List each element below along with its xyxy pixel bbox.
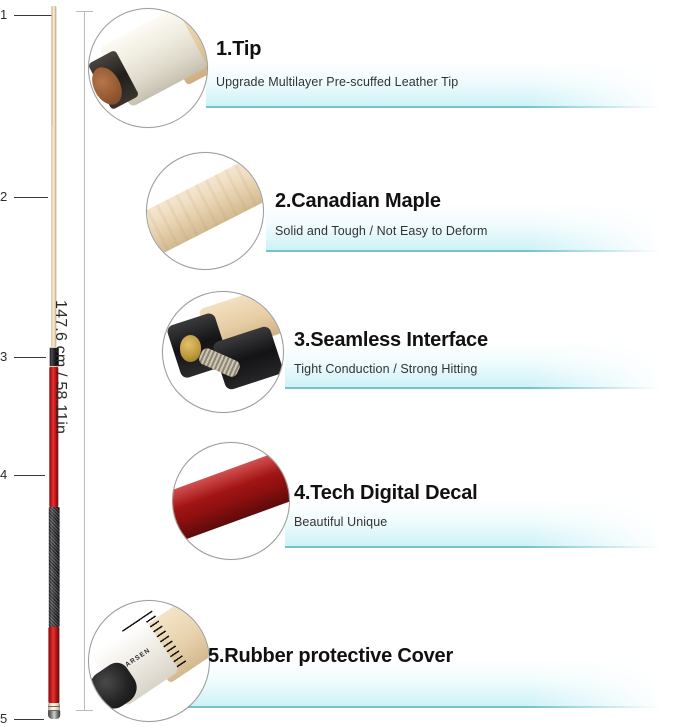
tick-leader-line xyxy=(14,357,46,358)
tick-marker-1: 1 xyxy=(0,8,52,22)
tick-label: 1 xyxy=(0,8,14,22)
tick-label: 4 xyxy=(0,468,14,482)
band-fade-overlay xyxy=(529,204,679,252)
length-dimension-label: 147.6 cm / 58.11in xyxy=(51,300,69,434)
cue-butt-ring-a xyxy=(48,706,60,707)
feature-title: 4.Tech Digital Decal xyxy=(294,482,477,505)
feature-title: 5.Rubber protective Cover xyxy=(208,645,453,668)
feature-subtitle: Solid and Tough / Not Easy to Deform xyxy=(275,224,488,238)
cue-rubber-bumper xyxy=(48,711,60,719)
joint-interface-photo xyxy=(162,291,284,413)
maple-photo-grain xyxy=(147,153,263,262)
tick-label: 5 xyxy=(0,712,14,726)
feature-subtitle: Tight Conduction / Strong Hitting xyxy=(294,362,478,376)
decal-photo-highlight xyxy=(173,443,289,546)
tick-label: 2 xyxy=(0,190,14,204)
feature-subtitle: Beautiful Unique xyxy=(294,515,387,529)
tick-leader-line xyxy=(14,475,45,476)
feature-subtitle: Upgrade Multilayer Pre-scuffed Leather T… xyxy=(216,75,458,89)
band-fade-overlay xyxy=(529,660,679,708)
tick-label: 3 xyxy=(0,350,14,364)
tick-marker-5: 5 xyxy=(0,712,44,726)
tick-leader-line xyxy=(14,719,44,720)
product-infographic: 1 2 3 4 5 xyxy=(0,0,679,727)
band-fade-overlay xyxy=(529,60,679,108)
feature-title: 1.Tip xyxy=(216,38,261,61)
cue-grip-wrap xyxy=(49,507,60,627)
cue-red-butt xyxy=(48,627,59,703)
cue-tip-photo xyxy=(88,8,208,128)
rubber-cover-photo: GARSEN xyxy=(88,600,210,722)
band-fade-overlay xyxy=(529,341,679,389)
measurement-column: 1 2 3 4 5 xyxy=(0,0,100,727)
tick-marker-3: 3 xyxy=(0,350,46,364)
feature-title: 2.Canadian Maple xyxy=(275,190,441,213)
tick-marker-2: 2 xyxy=(0,190,48,204)
maple-shaft-photo xyxy=(146,152,264,270)
tick-leader-line xyxy=(14,197,48,198)
tick-marker-4: 4 xyxy=(0,468,45,482)
band-fade-overlay xyxy=(529,500,679,548)
feature-title: 3.Seamless Interface xyxy=(294,329,488,352)
cue-shaft-taper xyxy=(52,6,56,126)
digital-decal-photo xyxy=(172,442,290,560)
dimension-line xyxy=(84,11,85,711)
